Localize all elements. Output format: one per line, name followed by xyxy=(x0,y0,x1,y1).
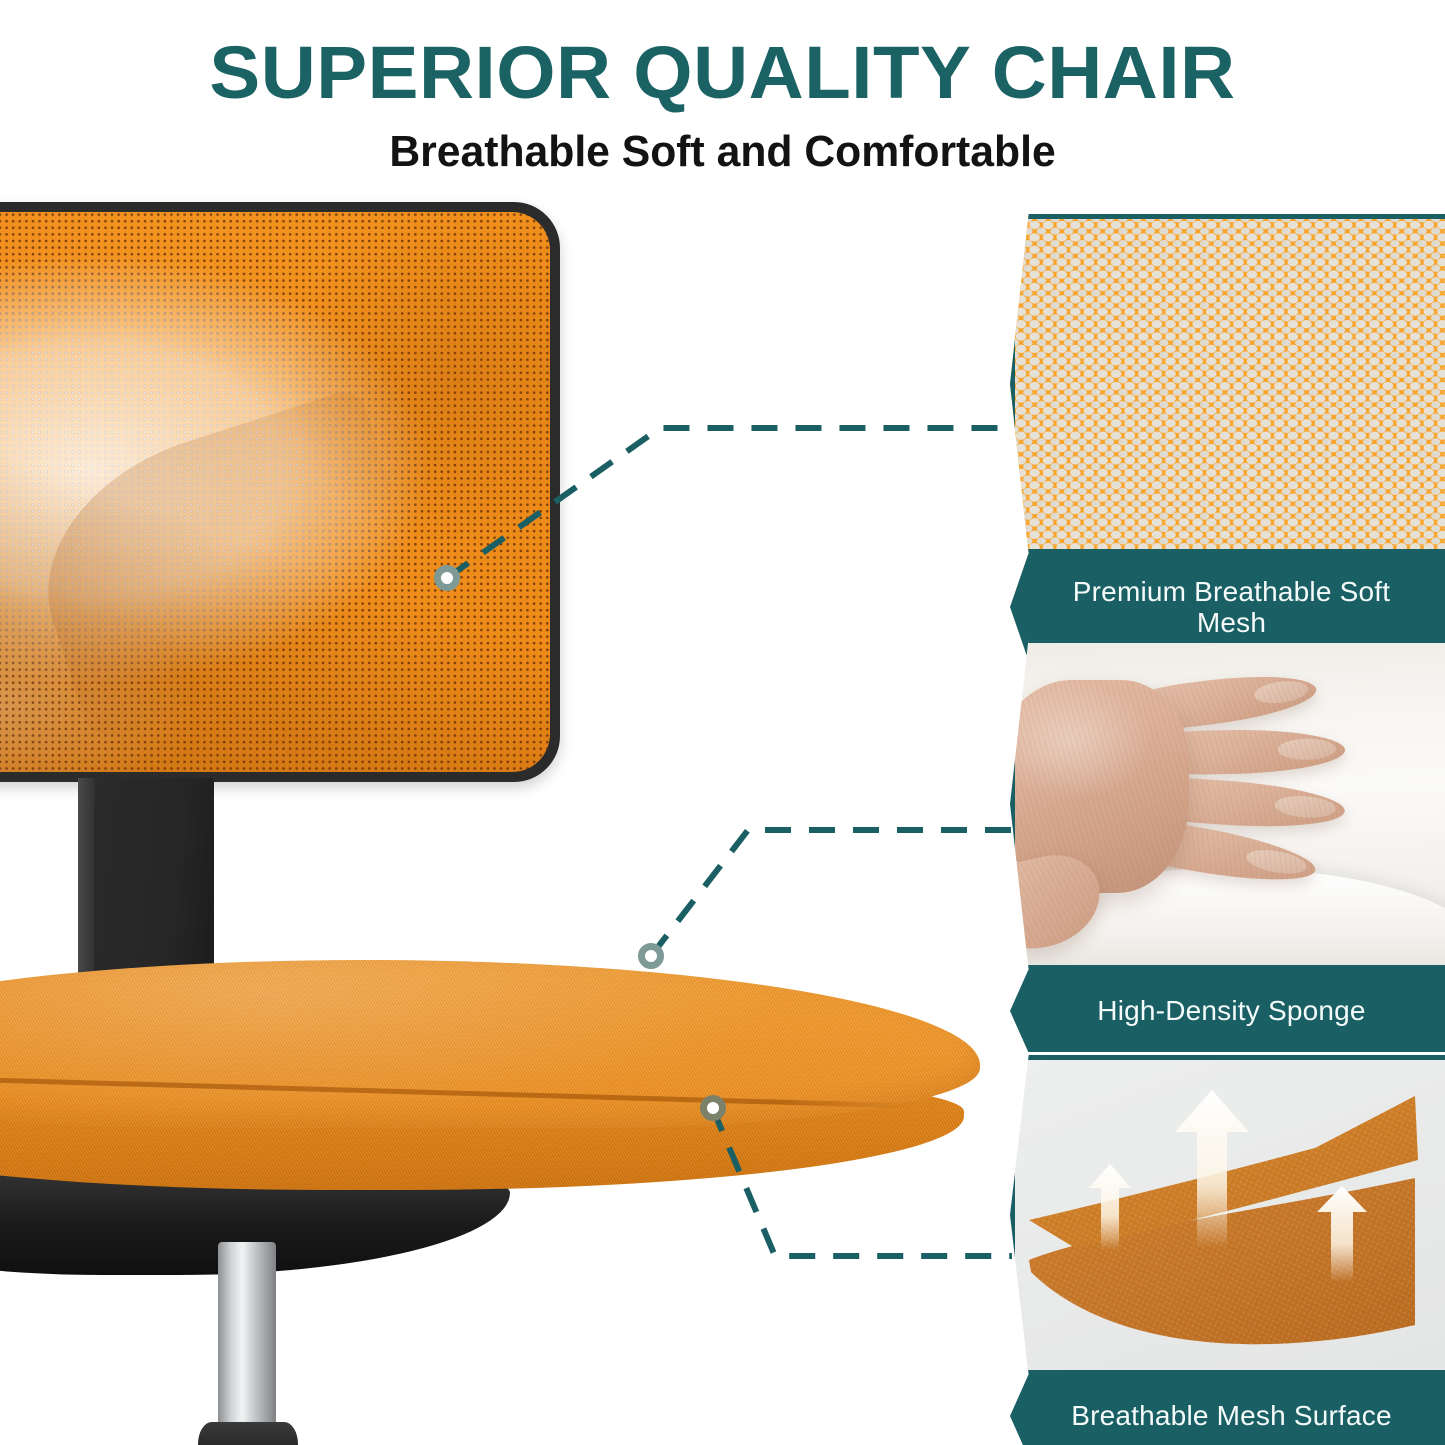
callout-marker-seat-mesh[interactable] xyxy=(700,1095,726,1121)
mesh-swatch-warp-lines xyxy=(1015,219,1445,549)
airflow-layers-svg xyxy=(1015,1060,1445,1370)
panel-breathable[interactable]: Breathable Mesh Surface xyxy=(1010,1055,1445,1445)
page-title: SUPERIOR QUALITY CHAIR xyxy=(0,0,1445,110)
hand-illustration xyxy=(1010,662,1389,958)
post-edge-highlight xyxy=(78,778,94,978)
cylinder-base-collar xyxy=(198,1422,298,1445)
hand-pressing-foam-image xyxy=(1010,638,1445,970)
header: SUPERIOR QUALITY CHAIR Breathable Soft a… xyxy=(0,0,1445,174)
infographic-canvas: SUPERIOR QUALITY CHAIR Breathable Soft a… xyxy=(0,0,1445,1445)
mesh-fabric-closeup-image xyxy=(1010,214,1445,554)
back-support-post xyxy=(78,778,214,978)
panel-sponge-caption: High-Density Sponge xyxy=(1063,995,1391,1026)
panel-breathable-caption-band: Breathable Mesh Surface xyxy=(1010,1375,1445,1445)
panel-breathable-caption: Breathable Mesh Surface xyxy=(1037,1400,1418,1431)
layered-mesh-airflow-image xyxy=(1010,1055,1445,1375)
backrest-mesh-surface xyxy=(0,212,550,772)
callout-marker-seat-sponge[interactable] xyxy=(638,943,664,969)
panel-mesh-caption: Premium Breathable Soft Mesh xyxy=(1010,576,1445,639)
gas-cylinder xyxy=(218,1242,276,1438)
chair-mesh-backrest xyxy=(0,202,560,782)
backrest-shading xyxy=(0,212,550,772)
panel-sponge-caption-band: High-Density Sponge xyxy=(1010,970,1445,1052)
page-subtitle: Breathable Soft and Comfortable xyxy=(22,110,1424,174)
callout-marker-backrest-mesh[interactable] xyxy=(434,565,460,591)
panel-mesh[interactable]: Premium Breathable Soft Mesh xyxy=(1010,214,1445,660)
product-photo-chair xyxy=(0,190,1000,1445)
panel-sponge[interactable]: High-Density Sponge xyxy=(1010,638,1445,1052)
chair-seat-cushion xyxy=(0,960,980,1190)
